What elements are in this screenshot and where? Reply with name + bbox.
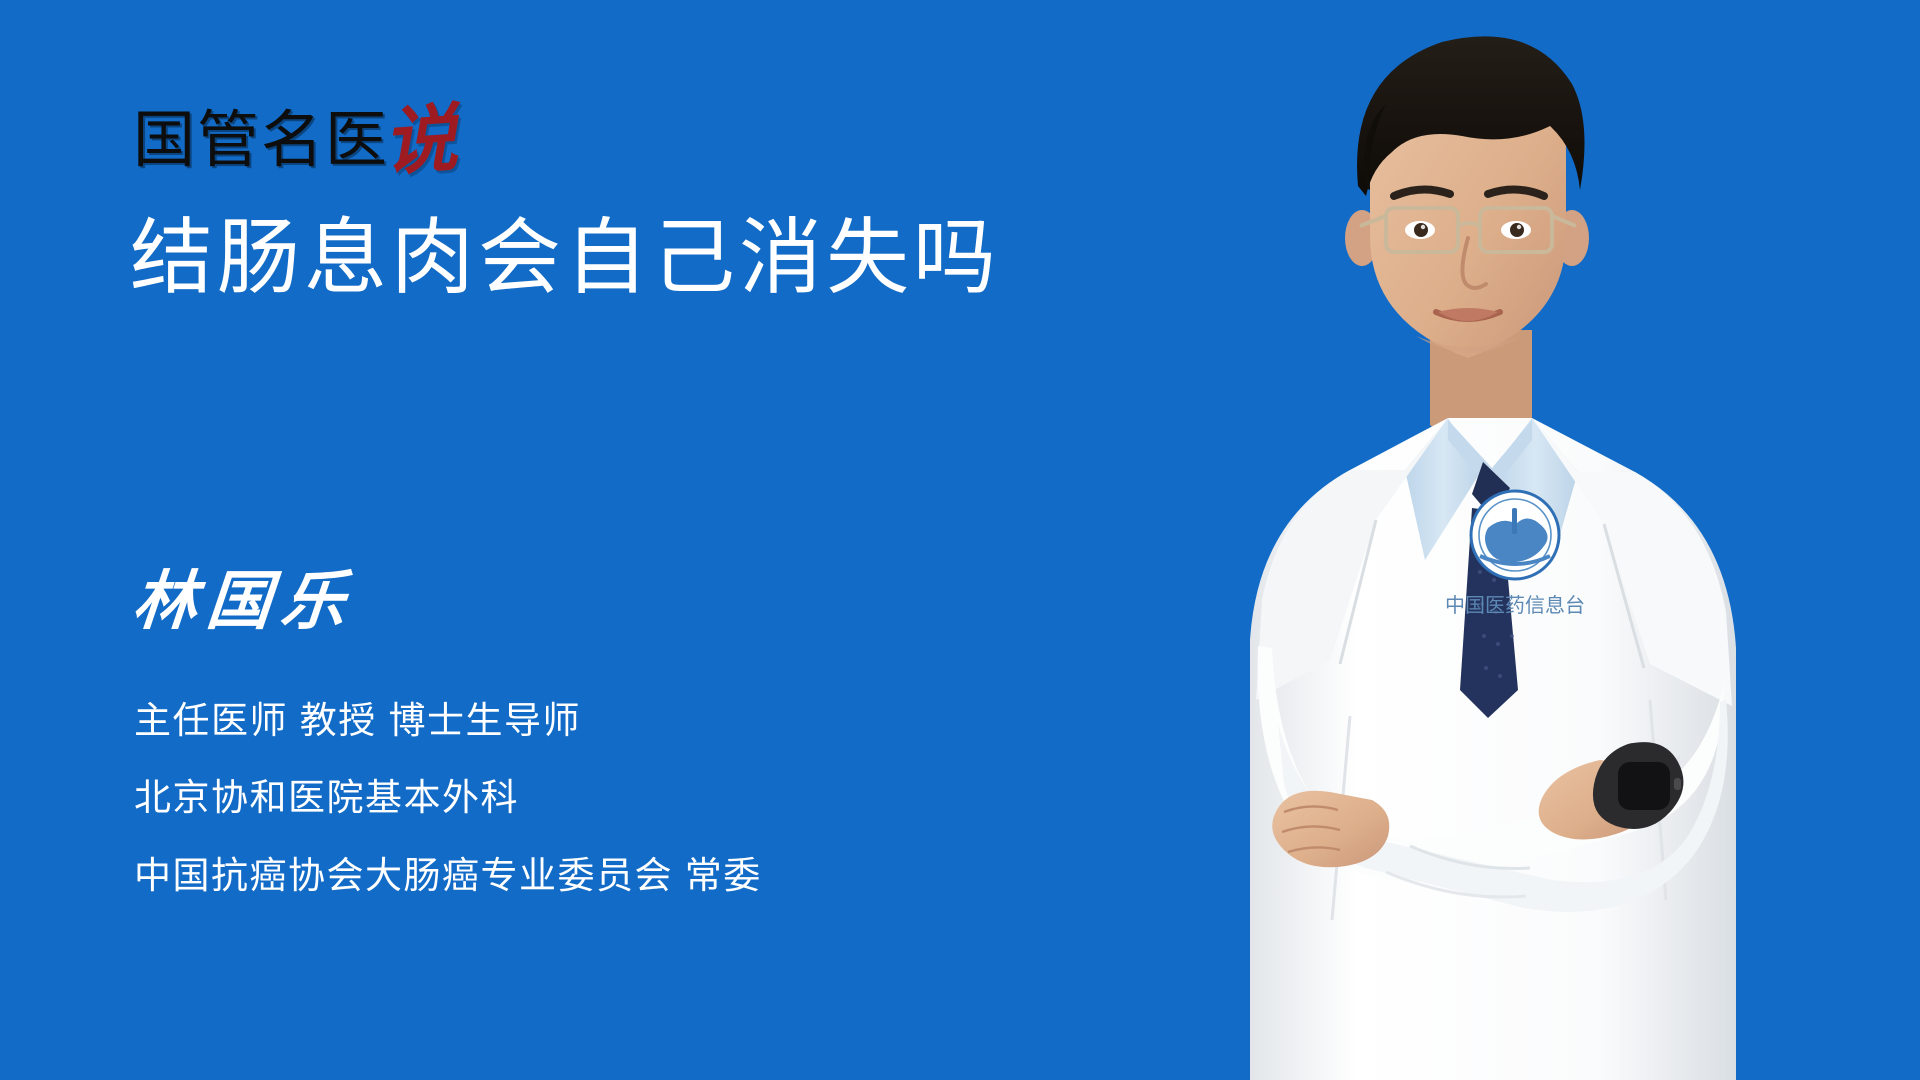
program-logo-accent-text: 说 [381,103,460,178]
badge-label: 中国医药信息台 [1445,593,1585,617]
doctor-credentials: 主任医师 教授 博士生导师 北京协和医院基本外科 中国抗癌协会大肠癌专业委员会 … [134,700,762,896]
program-logo-main-text: 国管名医 [133,110,389,172]
page-title: 结肠息肉会自己消失吗 [130,216,1000,299]
doctor-photo-illustration: 中国医药信息台 [1180,0,1920,1080]
doctor-photo: 中国医药信息台 [1180,0,1920,1080]
program-logo: 国管名医 说 [133,90,457,172]
credential-line: 北京协和医院基本外科 [134,777,762,818]
credential-line: 中国抗癌协会大肠癌专业委员会 常委 [134,855,762,896]
credential-line: 主任医师 教授 博士生导师 [134,700,762,741]
hospital-badge-icon [1471,491,1559,579]
thumbnail-canvas: 国管名医 说 结肠息肉会自己消失吗 林国乐 主任医师 教授 博士生导师 北京协和… [0,0,1920,1080]
doctor-name: 林国乐 [130,570,358,634]
